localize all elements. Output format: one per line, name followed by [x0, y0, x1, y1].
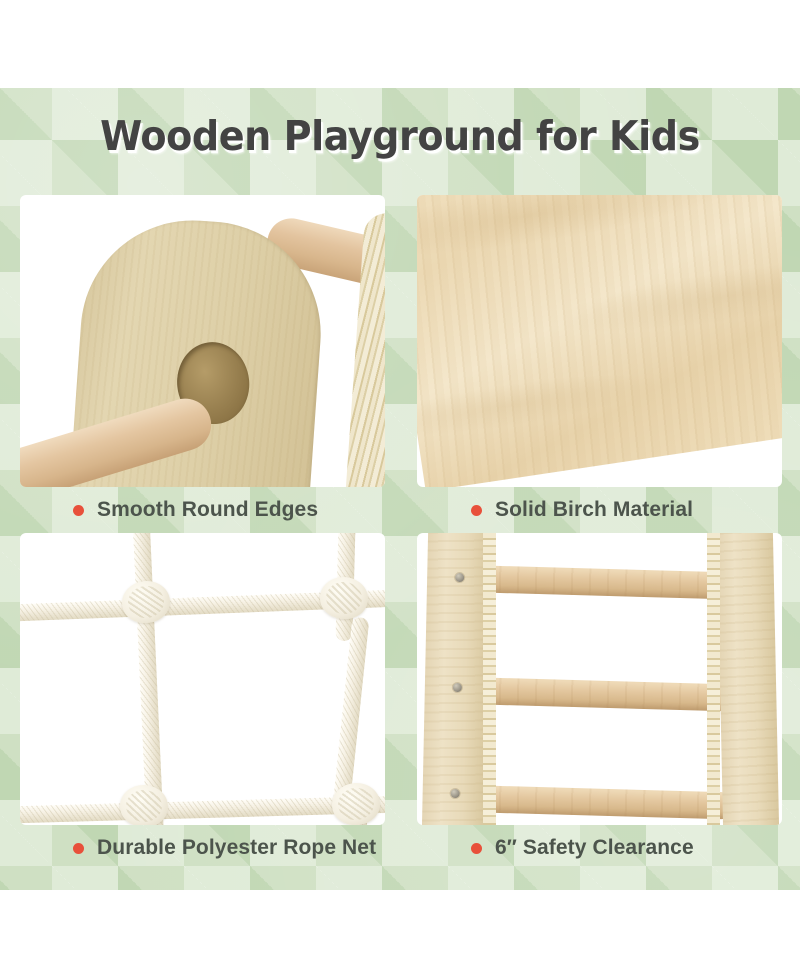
rope-knot	[120, 579, 172, 626]
caption-label: 6″ Safety Clearance	[495, 836, 694, 860]
bullet-dot-icon	[73, 505, 84, 516]
wood-grain-swirls	[417, 195, 782, 487]
ladder-rung	[483, 677, 736, 711]
caption-label: Durable Polyester Rope Net	[97, 836, 376, 860]
bullet-dot-icon	[471, 843, 482, 854]
feature-photo-rope-net	[20, 533, 385, 825]
feature-cell-durable-polyester-rope-net: Durable Polyester Rope Net	[20, 533, 385, 871]
page-title: Wooden Playground for Kids	[28, 112, 772, 160]
rope-strand-horizontal	[20, 796, 385, 824]
ladder-side-rail-left	[422, 533, 491, 825]
wood-grain-texture	[717, 533, 780, 825]
ladder-rung	[483, 565, 736, 599]
bullet-dot-icon	[471, 505, 482, 516]
product-feature-graphic: Wooden Playground for Kids Smooth Round …	[0, 0, 800, 977]
feature-cell-solid-birch-material: Solid Birch Material	[417, 195, 782, 533]
feature-caption-smooth-round-edges: Smooth Round Edges	[20, 487, 385, 533]
feature-caption-solid-birch-material: Solid Birch Material	[417, 487, 782, 533]
feature-photo-solid-birch-material	[417, 195, 782, 487]
feature-cell-safety-clearance: 6″ Safety Clearance	[417, 533, 782, 871]
ladder-rung	[483, 785, 736, 819]
rope-strand-vertical	[133, 533, 164, 825]
rope-knot	[318, 575, 369, 621]
rope-braid-texture	[133, 533, 164, 825]
caption-label: Smooth Round Edges	[97, 498, 318, 522]
caption-label: Solid Birch Material	[495, 498, 693, 522]
ladder-side-rail-right	[717, 533, 780, 825]
feature-cell-smooth-round-edges: Smooth Round Edges	[20, 195, 385, 533]
feature-caption-durable-polyester-rope-net: Durable Polyester Rope Net	[20, 825, 385, 871]
birch-plank	[417, 195, 782, 487]
bullet-dot-icon	[73, 843, 84, 854]
rope-braid-texture	[20, 796, 385, 824]
feature-photo-smooth-round-edges	[20, 195, 385, 487]
feature-caption-safety-clearance: 6″ Safety Clearance	[417, 825, 782, 871]
plywood-layered-edge	[483, 533, 496, 825]
feature-photo-ladder	[417, 533, 782, 825]
plywood-layered-edge	[707, 533, 720, 825]
